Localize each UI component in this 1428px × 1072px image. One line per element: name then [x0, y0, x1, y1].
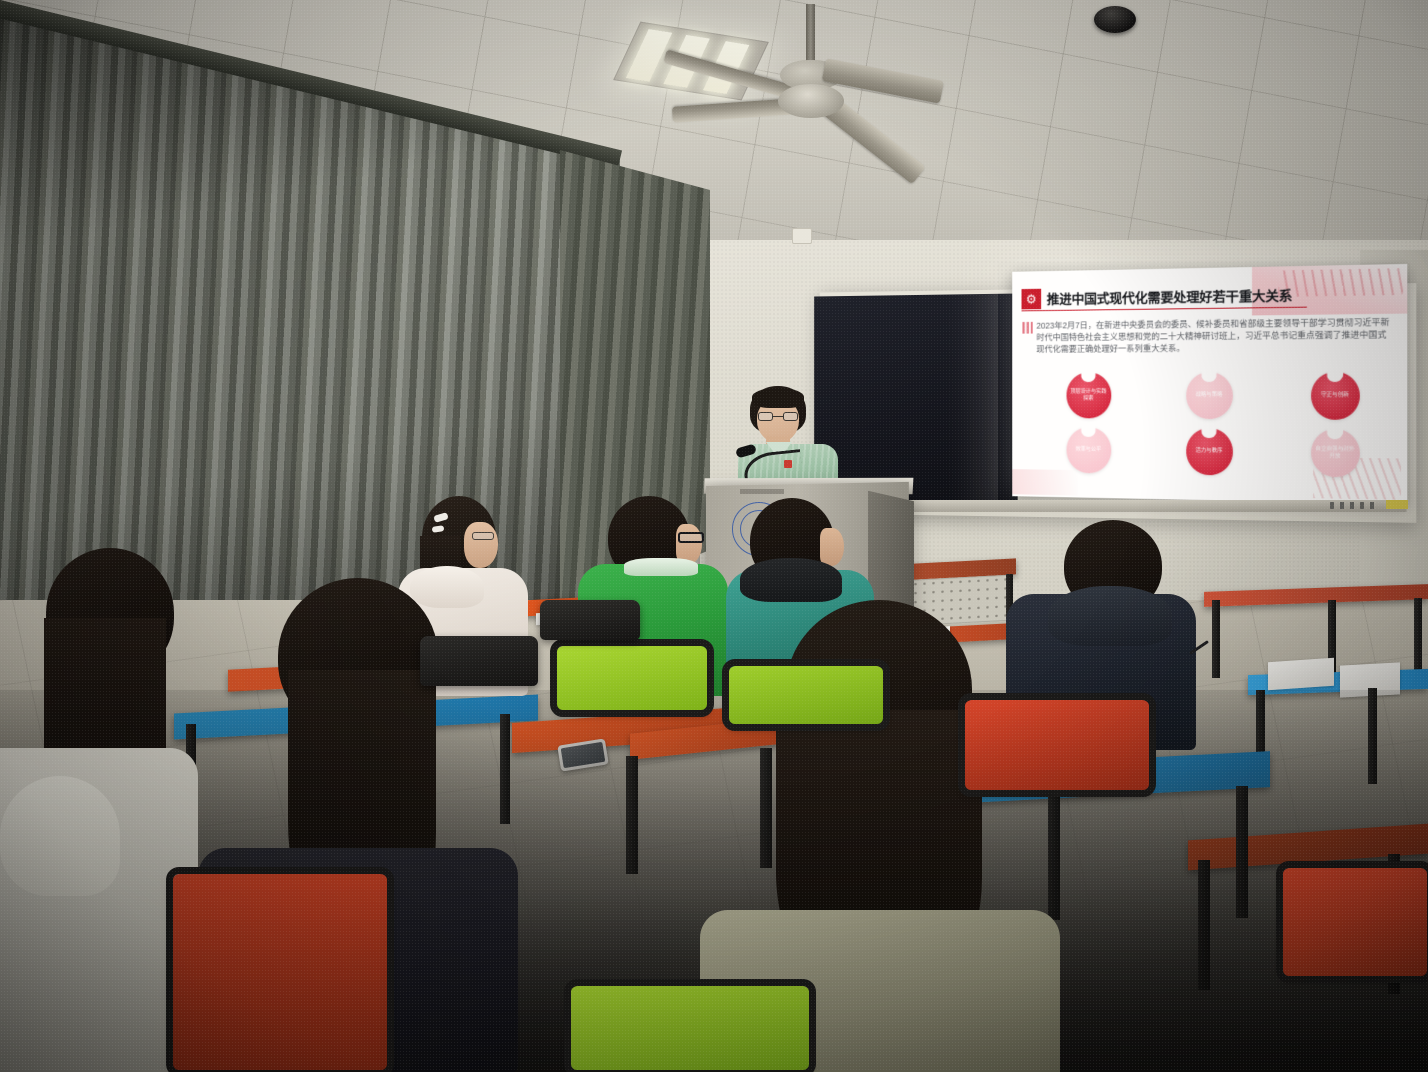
chair-red-foreground[interactable]	[172, 874, 388, 1072]
slide-circle: 顶层设计与实践探索	[1066, 372, 1111, 418]
desk-back-right	[1204, 588, 1428, 603]
slide-circle: 效率与公平	[1066, 427, 1111, 474]
chair-back	[420, 636, 538, 686]
wall-outlet	[792, 228, 812, 244]
classroom-scene: ⚙ 推进中国式现代化需要处理好若干重大关系 2023年2月7日，在新进中央委员会…	[0, 0, 1428, 1072]
podium-label-plate	[740, 489, 784, 494]
chair-frame	[550, 639, 714, 717]
ceiling-fan-rod	[806, 4, 815, 66]
desk-leg	[1212, 600, 1220, 678]
slide-circle: 自立自强与对外开放	[1311, 429, 1360, 478]
presenter-fringe	[752, 388, 804, 408]
glasses-lens	[783, 412, 798, 421]
slide-circle: 守正与创新	[1311, 372, 1360, 420]
slide-circle-label: 守正与创新	[1321, 392, 1349, 399]
chair-frame	[564, 979, 816, 1072]
party-hammer-sickle-icon: ⚙	[1022, 288, 1042, 309]
chair-red-right[interactable]	[964, 700, 1150, 792]
chair-frame	[722, 659, 890, 731]
chair-frame	[1276, 861, 1428, 983]
glasses-bridge	[773, 416, 783, 417]
student-face	[464, 522, 498, 568]
chair-frame	[958, 693, 1156, 797]
chair-red-far-right[interactable]	[1282, 868, 1428, 978]
slide-decoration-bottomleft	[1012, 469, 1078, 495]
slide-body-text: 2023年2月7日，在新进中央委员会的委员、候补委员和省部级主要领导干部学习贯彻…	[1036, 316, 1390, 356]
paper-sheet	[1268, 658, 1334, 691]
dome-security-camera-icon	[1094, 6, 1136, 33]
slide-circle-label: 战略与策略	[1196, 392, 1223, 399]
student-glasses-icon	[472, 532, 494, 540]
chair-back	[540, 600, 640, 640]
smartboard-rail	[889, 500, 1407, 512]
ceiling-fan-motor	[778, 84, 844, 118]
slide-circle: 活力与秩序	[1186, 428, 1233, 476]
slide-bullet-icon	[1022, 322, 1032, 334]
slide-circle-label: 顶层设计与实践探索	[1069, 388, 1108, 402]
slide-circle: 战略与策略	[1186, 372, 1233, 419]
slide-circle-group: 顶层设计与实践探索 战略与策略 守正与创新 效率与公平 活力与秩序 自立自强与对…	[1048, 372, 1380, 478]
smartboard-label-tag	[1386, 500, 1408, 509]
jacket-hood	[740, 558, 842, 602]
hood	[1048, 586, 1172, 646]
chair-frame	[166, 867, 394, 1072]
projection-screen: ⚙ 推进中国式现代化需要处理好若干重大关系 2023年2月7日，在新进中央委员会…	[1012, 264, 1407, 504]
glasses-lens	[758, 412, 773, 421]
smartboard-controls[interactable]	[1330, 502, 1376, 509]
slide-circle-label: 活力与秩序	[1196, 448, 1223, 455]
chair-green-foreground[interactable]	[570, 986, 810, 1072]
fleece-hood	[0, 776, 120, 896]
student-face	[820, 528, 844, 566]
chair-green[interactable]	[556, 646, 708, 712]
student-glasses-icon	[678, 532, 704, 543]
presenter-glasses-icon	[758, 412, 798, 421]
slide-title-bar: ⚙ 推进中国式现代化需要处理好若干重大关系	[1022, 282, 1307, 311]
blackboard	[814, 294, 1018, 509]
sweater-collar	[624, 558, 698, 576]
slide-circle-label: 效率与公平	[1076, 447, 1102, 454]
chair-dark-back[interactable]	[540, 600, 640, 640]
slide-circle-label: 自立自强与对外开放	[1314, 446, 1357, 461]
chair-green-2[interactable]	[728, 666, 884, 726]
slide-title: 推进中国式现代化需要处理好若干重大关系	[1047, 284, 1292, 308]
chair-dark-mid[interactable]	[420, 636, 538, 686]
